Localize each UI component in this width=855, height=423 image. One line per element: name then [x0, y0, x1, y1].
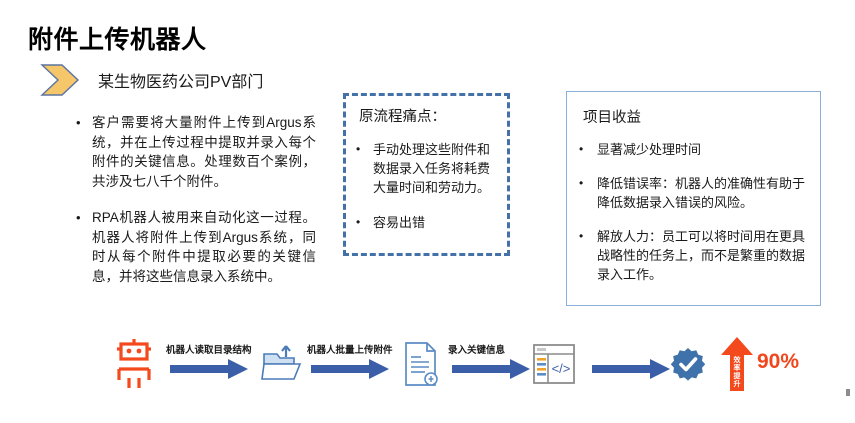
list-item: • 容易出错	[356, 213, 499, 232]
bullet-marker: •	[356, 213, 373, 232]
list-item: • 客户需要将大量附件上传到Argus系统，并在上传过程中提取并录入每个附件的关…	[76, 113, 316, 191]
list-item: • 解放人力：员工可以将时间用在更具战略性的任务上，而不是繁重的数据录入工作。	[579, 227, 810, 284]
list-item: • RPA机器人被用来自动化这一过程。机器人将附件上传到Argus系统，同时从每…	[76, 208, 316, 286]
svg-text:提: 提	[733, 371, 742, 380]
bullet-text: 降低错误率：机器人的准确性有助于降低数据录入错误的风险。	[597, 174, 810, 212]
list-item: • 降低错误率：机器人的准确性有助于降低数据录入错误的风险。	[579, 174, 810, 212]
up-arrow-icon: 效 率 提 升	[719, 336, 755, 392]
pain-points-box: 原流程痛点： • 手动处理这些附件和数据录入任务将耗费大量时间和劳动力。 • 容…	[343, 93, 510, 256]
bullet-marker: •	[356, 140, 373, 197]
document-icon	[401, 340, 441, 388]
arrow-right-icon	[311, 359, 389, 379]
process-flow: 机器人读取目录结构 机器人批量上传附件	[0, 330, 855, 400]
arrow-right-icon	[170, 359, 248, 379]
left-bullet-list: • 客户需要将大量附件上传到Argus系统，并在上传过程中提取并录入每个附件的关…	[76, 113, 316, 286]
efficiency-percent: 90%	[757, 350, 799, 374]
pain-points-list: • 手动处理这些附件和数据录入任务将耗费大量时间和劳动力。 • 容易出错	[356, 140, 499, 232]
benefits-box: 项目收益 • 显著减少处理时间 • 降低错误率：机器人的准确性有助于降低数据录入…	[566, 91, 821, 306]
list-item: • 显著减少处理时间	[579, 140, 810, 159]
flow-label-1: 机器人读取目录结构	[166, 342, 252, 356]
bullet-marker: •	[579, 140, 597, 159]
pain-points-title: 原流程痛点：	[359, 105, 446, 126]
bullet-text: 容易出错	[373, 213, 425, 232]
flow-label-3: 录入关键信息	[448, 342, 505, 356]
bullet-marker: •	[76, 113, 92, 191]
bullet-text: 显著减少处理时间	[597, 140, 701, 159]
robot-icon	[112, 338, 156, 390]
bullet-text: 手动处理这些附件和数据录入任务将耗费大量时间和劳动力。	[373, 140, 499, 197]
svg-text:率: 率	[734, 363, 741, 372]
slide-canvas: 附件上传机器人 某生物医药公司PV部门 • 客户需要将大量附件上传到Argus系…	[0, 0, 855, 423]
bullet-text: 客户需要将大量附件上传到Argus系统，并在上传过程中提取并录入每个附件的关键信…	[92, 113, 316, 191]
arrow-right-icon	[452, 359, 530, 379]
arrow-right-icon	[592, 359, 670, 379]
benefits-title: 项目收益	[583, 106, 641, 127]
subtitle-row: 某生物医药公司PV部门	[36, 63, 263, 97]
svg-text:效: 效	[734, 355, 742, 364]
code-window-icon: </>	[531, 342, 577, 386]
bullet-marker: •	[76, 208, 92, 286]
list-item: • 手动处理这些附件和数据录入任务将耗费大量时间和劳动力。	[356, 140, 499, 197]
check-badge-icon	[670, 347, 706, 383]
benefits-list: • 显著减少处理时间 • 降低错误率：机器人的准确性有助于降低数据录入错误的风险…	[579, 140, 810, 284]
subtitle-text: 某生物医药公司PV部门	[98, 68, 263, 92]
bullet-text: 解放人力：员工可以将时间用在更具战略性的任务上，而不是繁重的数据录入工作。	[597, 227, 810, 284]
edge-marker	[846, 389, 850, 396]
chevron-right-icon	[36, 63, 84, 97]
svg-text:升: 升	[734, 379, 741, 388]
svg-text:</>: </>	[552, 361, 571, 376]
folder-upload-icon	[260, 342, 304, 386]
bullet-marker: •	[579, 227, 597, 284]
page-title: 附件上传机器人	[28, 20, 207, 56]
bullet-text: RPA机器人被用来自动化这一过程。机器人将附件上传到Argus系统，同时从每个附…	[92, 208, 316, 286]
bullet-marker: •	[579, 174, 597, 212]
flow-label-2: 机器人批量上传附件	[307, 342, 393, 356]
